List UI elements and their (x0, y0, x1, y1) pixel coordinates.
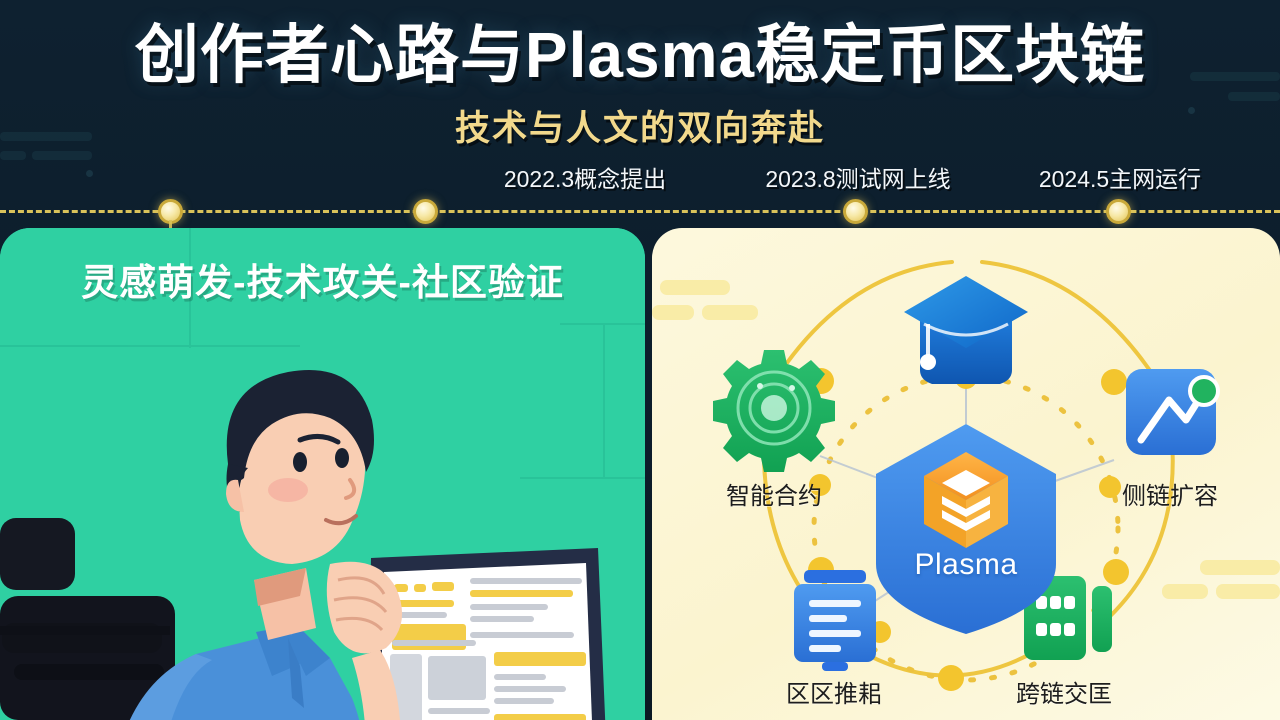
left-card: 灵感萌发-技术攻关-社区验证 (0, 228, 645, 720)
timeline-label-1: 2022.3概念提出 (504, 160, 666, 194)
gear-icon (713, 350, 835, 472)
node-label-cross-chain: 跨链交匡 (1016, 674, 1112, 709)
graduation-cap-icon (904, 276, 1028, 384)
document-list-icon (794, 570, 876, 671)
node-label-smart-contract: 智能合约 (726, 476, 822, 511)
node-label-ledger: 区区推耜 (786, 674, 882, 709)
timeline-marker-3[interactable] (843, 199, 868, 224)
timeline: 2022.3概念提出 2023.8测试网上线 2024.5主网运行 (0, 160, 1280, 228)
header-decor-bar (32, 151, 92, 160)
timeline-marker-4[interactable] (1106, 199, 1131, 224)
chart-up-icon (1126, 369, 1218, 455)
plasma-wordmark: Plasma (914, 548, 1017, 582)
page-subtitle: 技术与人文的双向奔赴 (0, 100, 1280, 151)
infographic-poster: 创作者心路与Plasma稳定币区块链 技术与人文的双向奔赴 2022.3概念提出… (0, 0, 1280, 720)
page-title: 创作者心路与Plasma稳定币区块链 (0, 22, 1280, 89)
timeline-label-3: 2024.5主网运行 (1039, 160, 1201, 194)
right-card: Plasma 智能合约 侧链扩容 区区推耜 跨链交匡 (652, 228, 1280, 720)
timeline-label-2: 2023.8测试网上线 (765, 160, 950, 194)
timeline-marker-2[interactable] (413, 199, 438, 224)
plasma-shield-logo (876, 424, 1056, 634)
left-card-heading: 灵感萌发-技术攻关-社区验证 (0, 252, 645, 306)
timeline-track (0, 210, 1280, 213)
plasma-ecosystem-diagram (652, 228, 1280, 720)
node-label-sidechain: 侧链扩容 (1122, 476, 1218, 511)
header-decor-bar (0, 151, 26, 160)
